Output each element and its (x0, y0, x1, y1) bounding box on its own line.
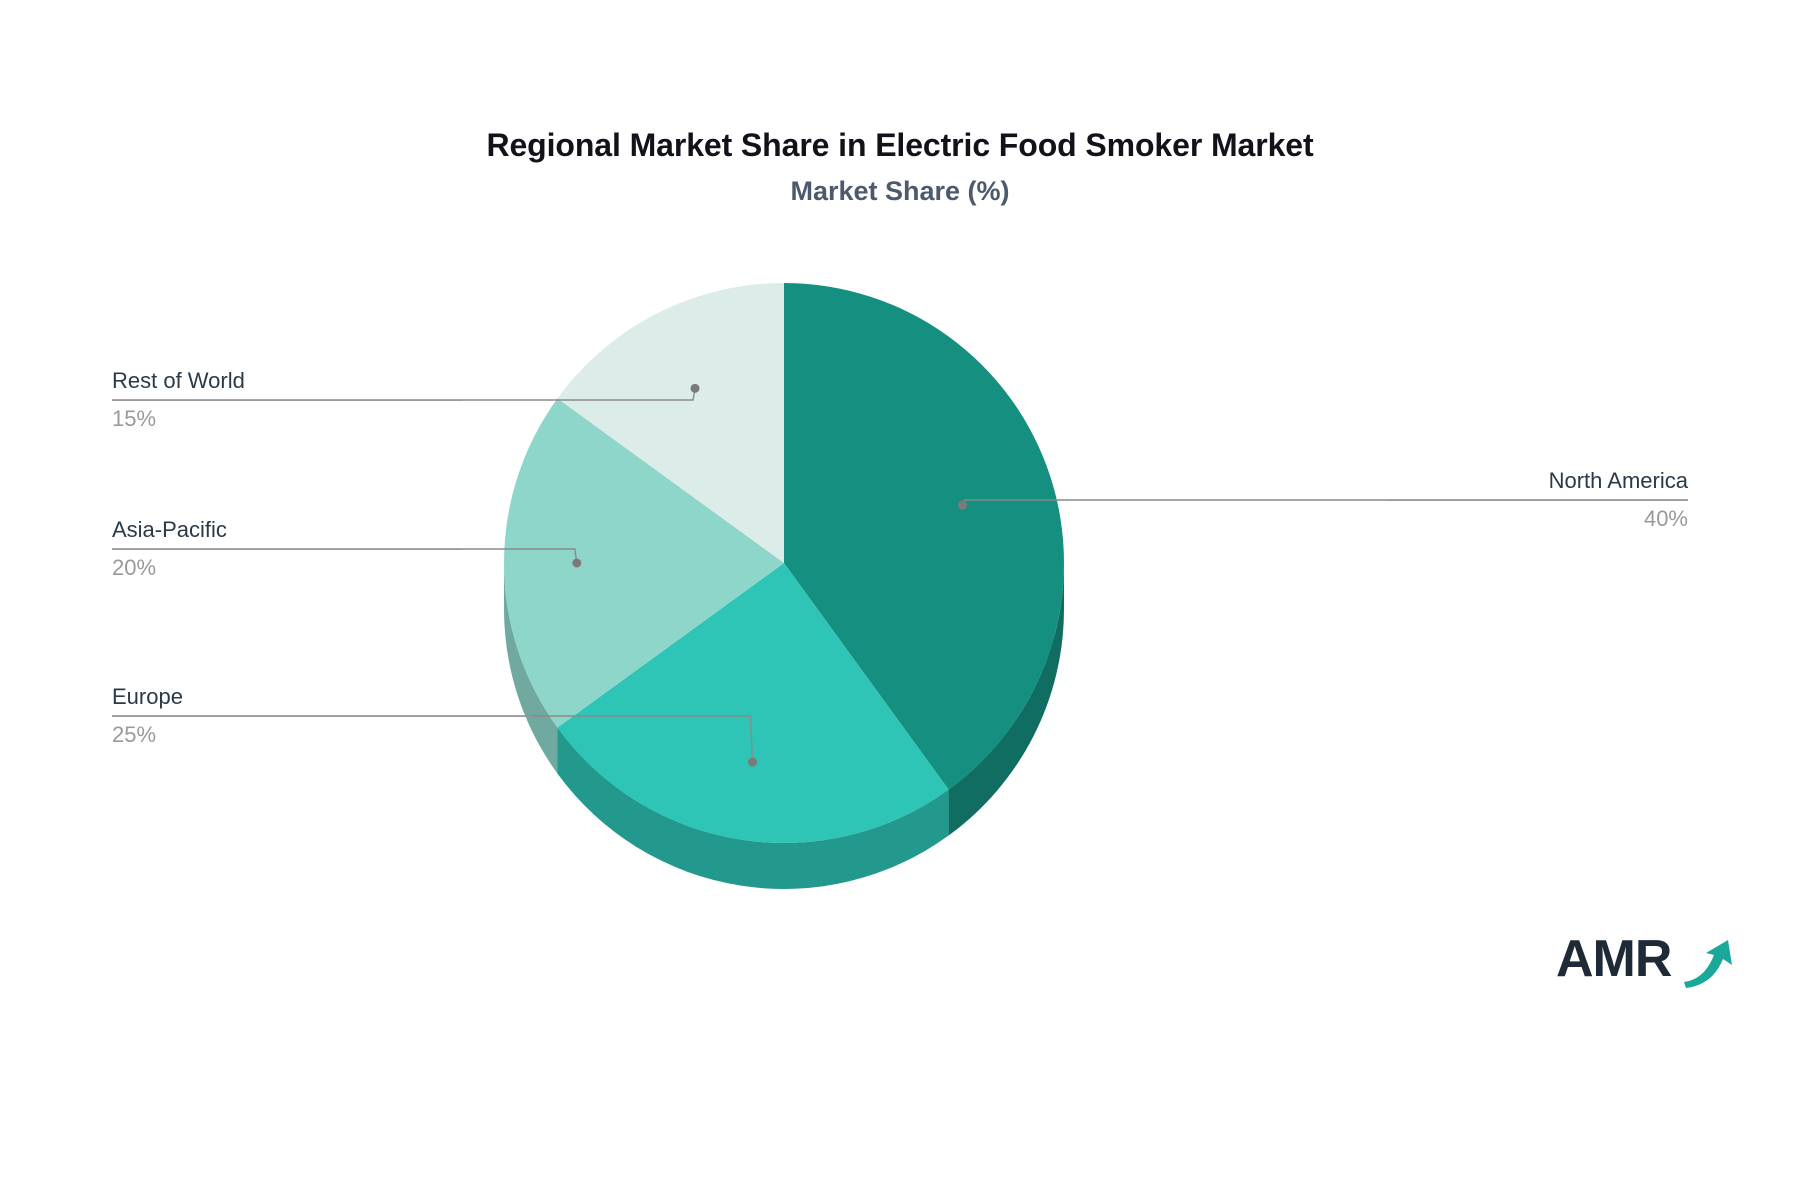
callout-asia-pacific: Asia-Pacific 20% (112, 516, 462, 581)
callout-europe: Europe 25% (112, 683, 532, 748)
leader-dot (572, 559, 581, 568)
callout-rule (112, 400, 462, 401)
amr-logo: AMR (1556, 926, 1746, 996)
leader-dot (748, 758, 757, 767)
callout-value: 20% (112, 554, 462, 582)
callout-label: Asia-Pacific (112, 516, 462, 544)
logo-wordmark: AMR (1556, 930, 1672, 988)
callout-rule (112, 716, 532, 717)
callout-value: 40% (1388, 505, 1688, 533)
callout-north-america: North America 40% (1388, 467, 1688, 532)
callout-rule (1388, 500, 1688, 501)
callout-label: Rest of World (112, 367, 462, 395)
callout-rule (112, 549, 462, 550)
leader-dot (691, 384, 700, 393)
leader-dot (958, 501, 967, 510)
pie-chart (0, 0, 1800, 1196)
pie-top-layer (504, 283, 1064, 843)
callout-value: 15% (112, 405, 462, 433)
callout-value: 25% (112, 721, 532, 749)
callout-label: Europe (112, 683, 532, 711)
growth-arrow-icon (1684, 940, 1732, 988)
callout-rest-of-world: Rest of World 15% (112, 367, 462, 432)
chart-canvas: Regional Market Share in Electric Food S… (0, 0, 1800, 1196)
callout-label: North America (1388, 467, 1688, 495)
